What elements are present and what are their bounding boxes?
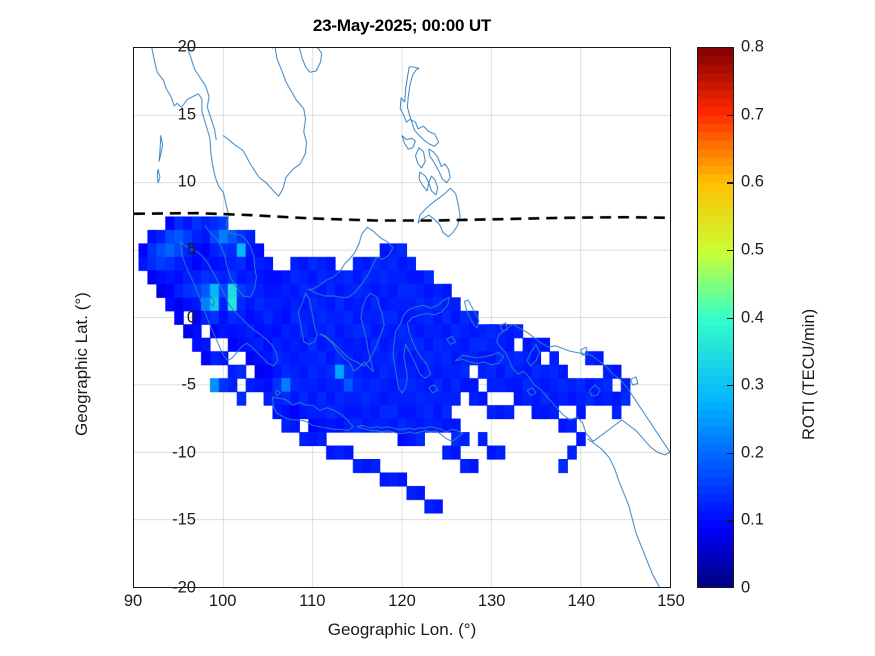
- y-tick-label: -5: [181, 376, 196, 395]
- x-tick-label: 110: [299, 592, 325, 611]
- x-tick-label: 90: [124, 592, 142, 611]
- colorbar-tick-mark: [727, 115, 734, 116]
- y-tick-label: -10: [172, 443, 196, 462]
- y-tick-label: -20: [172, 579, 196, 598]
- colorbar-tick-label: 0.6: [741, 173, 764, 192]
- colorbar-tick-label: 0.2: [741, 443, 764, 462]
- colorbar-tick-label: 0.8: [741, 38, 764, 57]
- colorbar-tick-mark: [727, 453, 734, 454]
- colorbar-tick-mark: [727, 385, 734, 386]
- y-axis-label: Geographic Lat. (°): [72, 292, 92, 436]
- figure-title: 23-May-2025; 00:00 UT: [133, 16, 671, 36]
- y-tick-label: 15: [178, 105, 196, 124]
- x-tick-label: 100: [209, 592, 237, 611]
- colorbar-tick-label: 0.7: [741, 105, 764, 124]
- x-tick-label: 120: [388, 592, 416, 611]
- y-tick-label: 0: [187, 308, 196, 327]
- colorbar-tick-label: 0: [741, 579, 750, 598]
- colorbar-tick-label: 0.4: [741, 308, 764, 327]
- roti-heatmap-canvas: [134, 48, 670, 587]
- colorbar-tick-label: 0.5: [741, 240, 764, 259]
- x-tick-label: 140: [568, 592, 596, 611]
- roti-map-figure: 23-May-2025; 00:00 UT -20-15-10-50510152…: [0, 0, 875, 656]
- y-tick-label: 20: [178, 38, 196, 57]
- colorbar-tick-mark: [727, 182, 734, 183]
- colorbar-tick-label: 0.3: [741, 376, 764, 395]
- colorbar-tick-mark: [727, 520, 734, 521]
- y-tick-label: 5: [187, 240, 196, 259]
- colorbar-tick-label: 0.1: [741, 511, 764, 530]
- y-tick-label: 10: [178, 173, 196, 192]
- plot-area[interactable]: [133, 47, 671, 588]
- y-tick-label: -15: [172, 511, 196, 530]
- x-tick-label: 130: [478, 592, 506, 611]
- colorbar-tick-mark: [727, 250, 734, 251]
- colorbar-tick-mark: [727, 318, 734, 319]
- x-axis-label: Geographic Lon. (°): [133, 620, 671, 640]
- x-tick-label: 150: [657, 592, 685, 611]
- colorbar-label: ROTI (TECU/min): [800, 309, 819, 440]
